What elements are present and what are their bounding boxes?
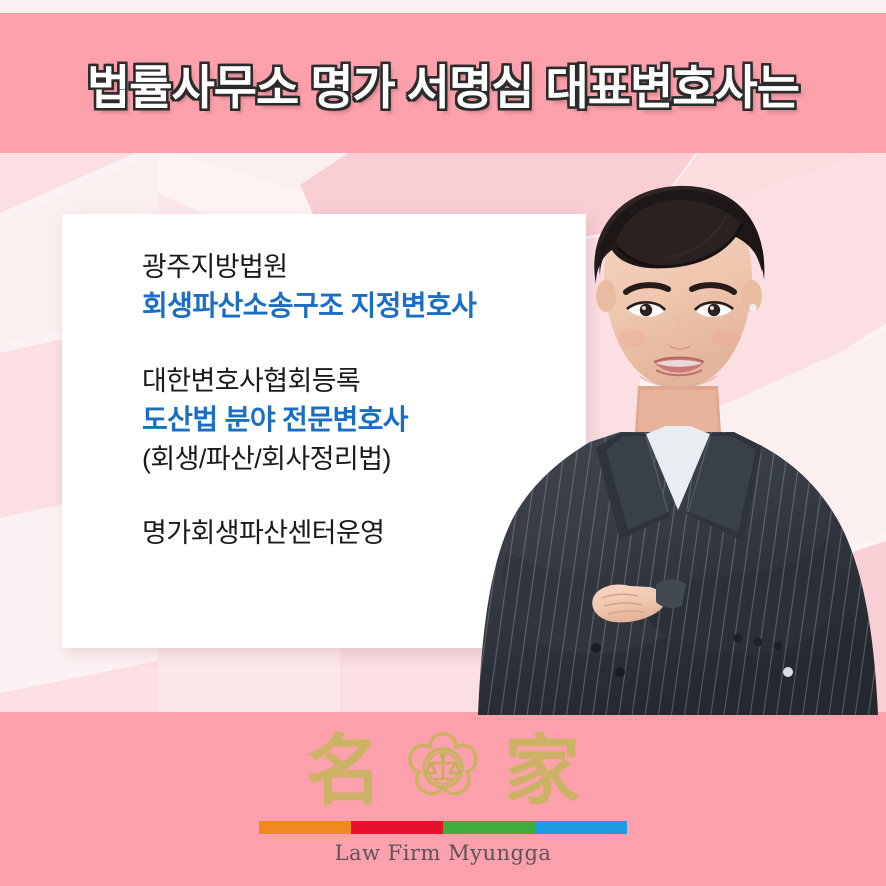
logo-glyph-row: 名 xyxy=(306,725,580,817)
logo-color-bar-segment-green xyxy=(443,821,535,834)
blossom-scales-of-justice-seal-icon xyxy=(398,726,488,816)
logo-caption: Law Firm Myungga xyxy=(335,841,552,865)
logo-hanja-myung: 名 xyxy=(306,733,382,809)
logo-color-bar xyxy=(259,821,627,834)
logo-hanja-ga: 家 xyxy=(504,733,580,809)
top-light-strip xyxy=(0,0,886,13)
brand-logo: 名 xyxy=(0,725,886,865)
logo-color-bar-segment-blue xyxy=(535,821,627,834)
page-title: 법률사무소 명가 서명심 대표변호사는 xyxy=(87,49,799,118)
logo-color-bar-segment-orange xyxy=(259,821,351,834)
headline-container: 법률사무소 명가 서명심 대표변호사는 xyxy=(0,13,886,153)
logo-color-bar-segment-red xyxy=(351,821,443,834)
poster-root: 법률사무소 명가 서명심 대표변호사는 광주지방법원 회생파산소송구조 지정변호… xyxy=(0,0,886,886)
female-lawyer-portrait xyxy=(470,180,886,715)
